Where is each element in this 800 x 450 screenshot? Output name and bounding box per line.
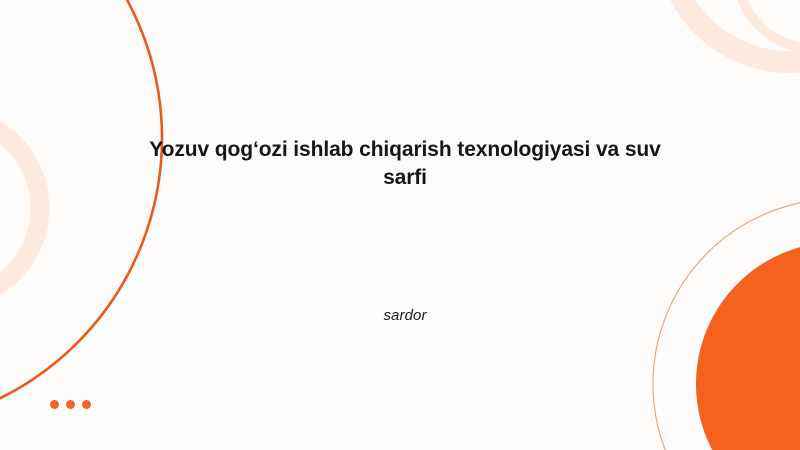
slide-title: Yozuv qog‘ozi ishlab chiqarish texnologi… — [140, 136, 670, 191]
presentation-title-slide: Yozuv qog‘ozi ishlab chiqarish texnologi… — [0, 0, 800, 450]
slide-subtitle-author: sardor — [220, 307, 590, 324]
slide-content: Yozuv qog‘ozi ishlab chiqarish texnologi… — [0, 0, 800, 450]
